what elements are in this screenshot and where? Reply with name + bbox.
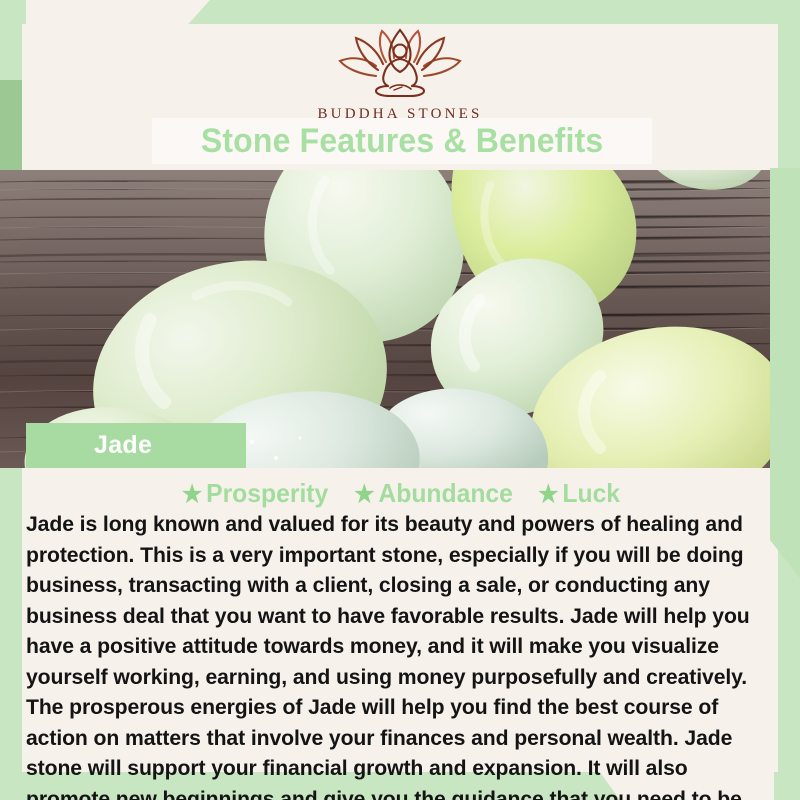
title-band: Stone Features & Benefits — [152, 118, 652, 164]
stone-name-label: Jade — [94, 431, 152, 460]
benefit-label: Luck — [562, 478, 620, 508]
benefit-item-abundance: ★Abundance — [355, 478, 514, 509]
page-title: Stone Features & Benefits — [201, 122, 604, 161]
star-icon: ★ — [538, 481, 558, 508]
benefit-label: Abundance — [379, 478, 513, 508]
benefits-row: ★Prosperity★Abundance★Luck — [22, 478, 778, 509]
stone-info-poster: BUDDHA STONES Stone Features & Benefits — [0, 0, 800, 800]
lotus-meditation-icon — [334, 28, 466, 100]
benefit-item-luck: ★Luck — [538, 478, 620, 509]
star-icon: ★ — [182, 481, 202, 508]
benefit-item-prosperity: ★Prosperity — [182, 478, 328, 509]
benefit-label: Prosperity — [206, 478, 328, 508]
frame-right-accent-bar — [770, 168, 800, 578]
stone-name-banner: Jade — [26, 423, 246, 468]
star-icon: ★ — [355, 481, 375, 508]
stone-description: Jade is long known and valued for its be… — [26, 509, 771, 800]
brand-logo: BUDDHA STONES — [22, 28, 778, 123]
